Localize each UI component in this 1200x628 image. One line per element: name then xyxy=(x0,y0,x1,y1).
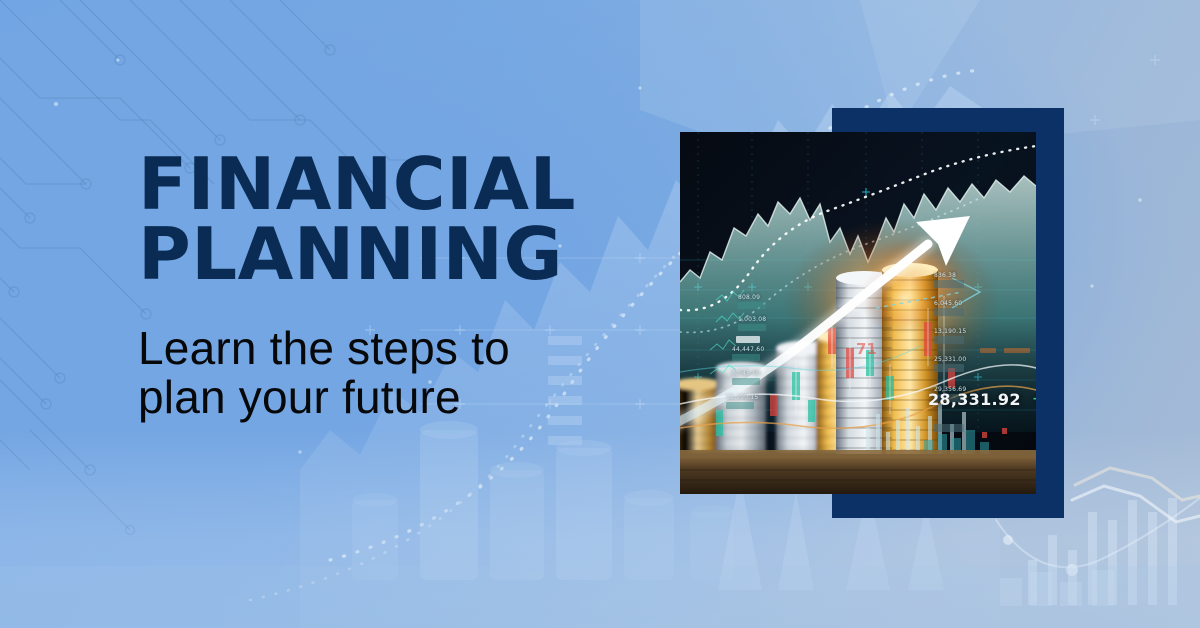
svg-text:71: 71 xyxy=(856,340,877,358)
quote-value-4: 29,356.69 xyxy=(934,386,966,393)
page-subtitle: Learn the steps to plan your future xyxy=(138,324,658,423)
page-title: FINANCIAL PLANNING xyxy=(138,150,658,290)
ticker-value-1: 1,003.08 xyxy=(738,316,766,323)
ticker-value-4: 13,190.15 xyxy=(726,394,758,401)
ticker-value-3: 6,045.60 xyxy=(732,370,760,377)
ticker-value-2: 44,447.60 xyxy=(732,346,764,353)
photo-right-numbers xyxy=(980,348,1030,353)
quote-value-2: 13,190.15 xyxy=(934,328,966,335)
quote-value-3: 25,331.00 xyxy=(934,356,966,363)
hero-photo: 71 28,331.92 +0.30 836.38 6,045.60 13,19… xyxy=(680,132,1036,494)
banner-canvas: FINANCIAL PLANNING Learn the steps to pl… xyxy=(0,0,1200,628)
quote-value-1: 6,045.60 xyxy=(934,300,962,307)
quote-value-0: 836.38 xyxy=(934,272,956,279)
photo-table-surface xyxy=(680,450,1036,494)
ticker-value-0: 808.09 xyxy=(738,294,760,301)
headline-block: FINANCIAL PLANNING Learn the steps to pl… xyxy=(138,150,658,423)
